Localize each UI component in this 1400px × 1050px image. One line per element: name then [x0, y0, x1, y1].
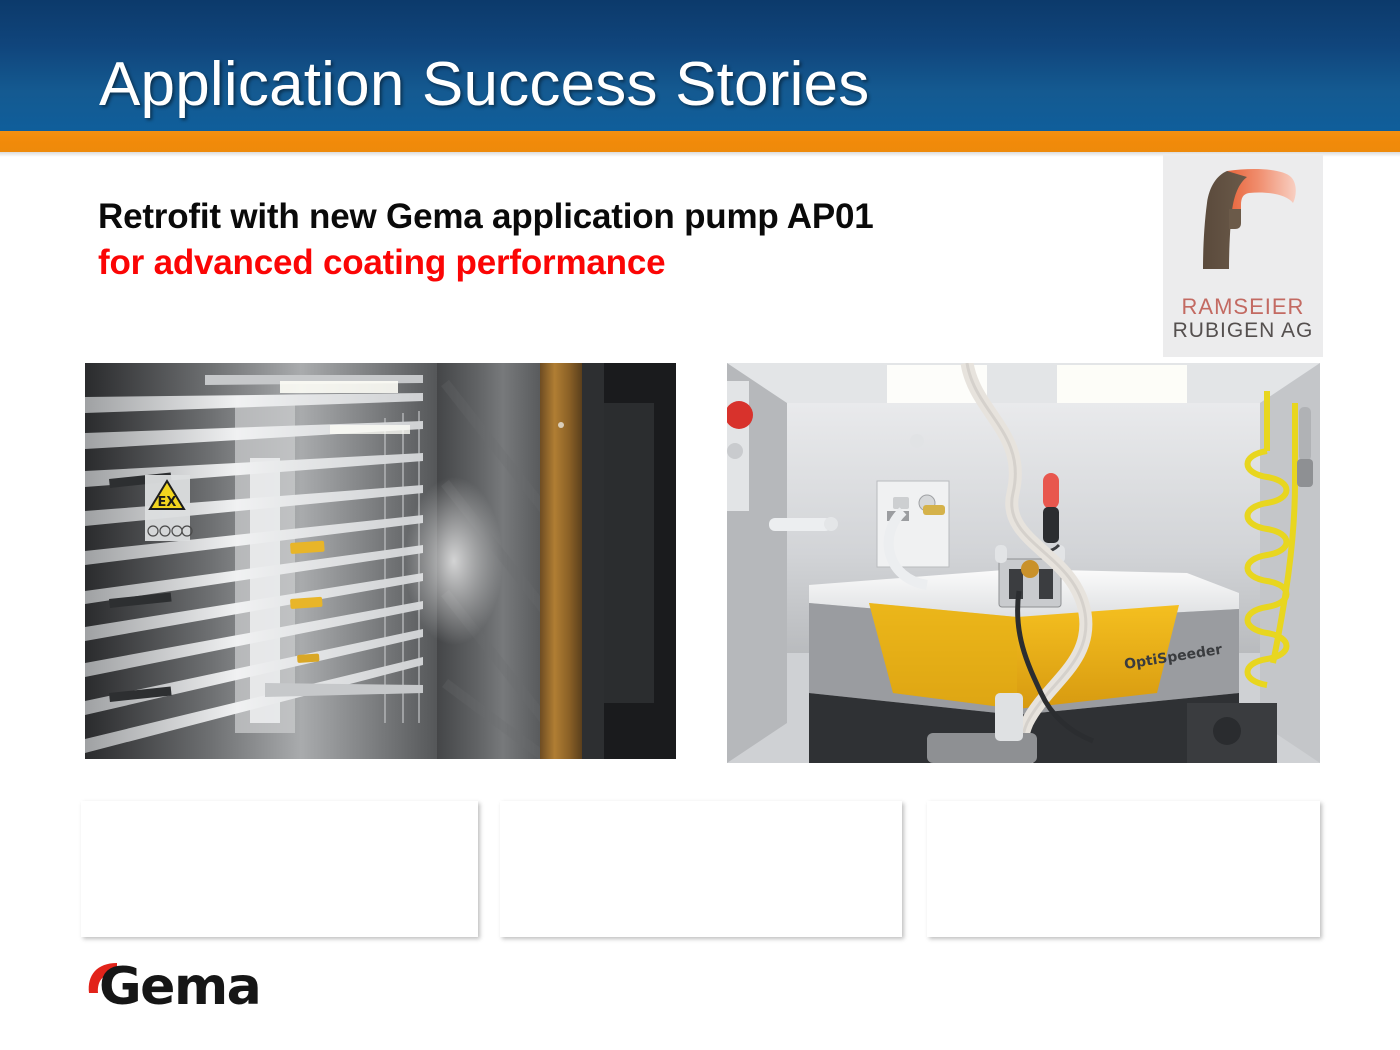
feature-button-powder-savings[interactable]: Powder Savings: [500, 801, 902, 937]
ramseier-ribbon-icon: [1183, 165, 1303, 280]
feature-button-label: Powder Savings: [582, 849, 820, 889]
slide: Application Success Stories Retrofit wit…: [0, 0, 1400, 1050]
gema-logo-text: Gema: [99, 959, 260, 1015]
feature-button-quick-color-change[interactable]: Quick Color Change: [81, 801, 478, 937]
customer-logo: RAMSEIER RUBIGEN AG: [1163, 155, 1323, 357]
ex-warning-sign: EX: [145, 475, 192, 541]
headline-block: Retrofit with new Gema application pump …: [98, 196, 1158, 284]
gema-logo: Gema: [85, 963, 285, 1019]
header-band: Application Success Stories: [0, 0, 1400, 131]
header-accent-rule: [0, 131, 1400, 152]
optispeeder-photo: OptiSpeeder: [727, 363, 1320, 763]
feature-button-reproducible-layer-thickness[interactable]: Reproducible layer thickness: [927, 801, 1320, 937]
headline-line-2: for advanced coating performance: [98, 242, 1158, 284]
powder-booth-photo: EX: [85, 363, 676, 759]
customer-logo-subtitle: RUBIGEN AG: [1163, 319, 1323, 342]
page-title: Application Success Stories: [99, 54, 869, 116]
feature-button-label: Reproducible layer thickness: [941, 829, 1306, 909]
feature-button-label: Quick Color Change: [110, 849, 407, 889]
svg-text:EX: EX: [158, 495, 177, 510]
customer-logo-name: RAMSEIER: [1163, 295, 1323, 319]
headline-line-1: Retrofit with new Gema application pump …: [98, 196, 1158, 238]
